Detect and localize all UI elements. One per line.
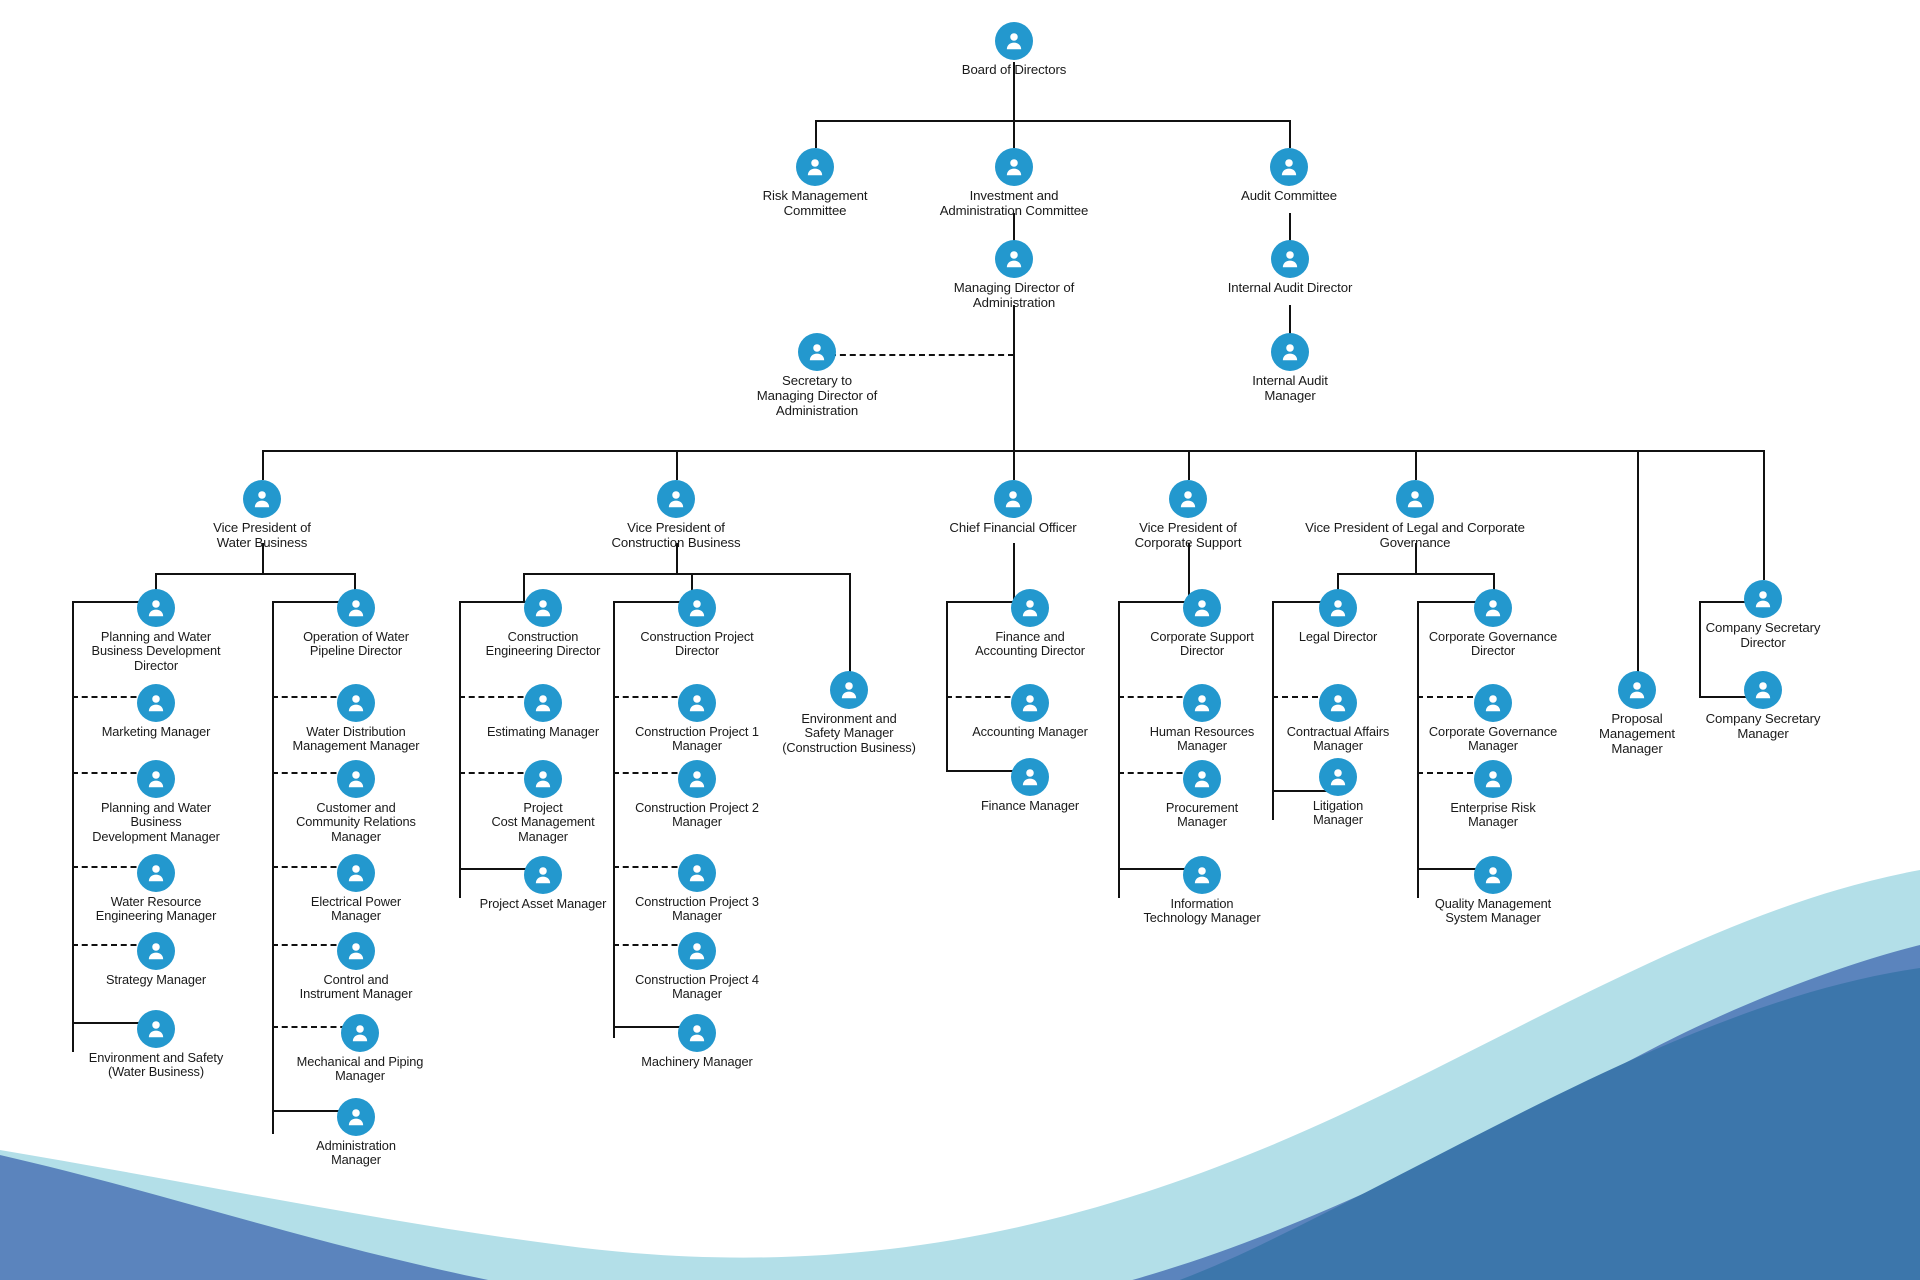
person-icon	[1183, 589, 1221, 627]
node-quality-management-system-manager[interactable]: Quality Management System Manager	[1409, 856, 1577, 926]
node-environment-safety-manager-construction[interactable]: Environment and Safety Manager (Construc…	[763, 671, 935, 755]
person-icon	[137, 684, 175, 722]
person-icon	[137, 932, 175, 970]
org-chart-canvas: Board of Directors Risk Management Commi…	[0, 0, 1920, 1280]
node-risk-management-committee[interactable]: Risk Management Committee	[725, 148, 905, 219]
person-icon	[524, 856, 562, 894]
node-construction-project-1-manager[interactable]: Construction Project 1 Manager	[607, 684, 787, 754]
node-contractual-affairs-manager[interactable]: Contractual Affairs Manager	[1266, 684, 1410, 754]
node-electrical-power-manager[interactable]: Electrical Power Manager	[272, 854, 440, 924]
node-strategy-manager[interactable]: Strategy Manager	[82, 932, 230, 987]
node-label: Customer and Community Relations Manager	[296, 801, 416, 844]
node-control-instrument-manager[interactable]: Control and Instrument Manager	[272, 932, 440, 1002]
connector-to-vp-legal	[1415, 450, 1417, 480]
person-icon	[678, 1014, 716, 1052]
node-label: Construction Project 2 Manager	[635, 801, 759, 830]
connector-to-cfo	[1013, 450, 1015, 480]
node-mechanical-piping-manager[interactable]: Mechanical and Piping Manager	[272, 1014, 448, 1084]
node-vp-water-business[interactable]: Vice President of Water Business	[177, 480, 347, 551]
node-human-resources-manager[interactable]: Human Resources Manager	[1118, 684, 1286, 754]
node-planning-water-business-development-manager[interactable]: Planning and Water Business Development …	[82, 760, 230, 844]
node-internal-audit-director[interactable]: Internal Audit Director	[1195, 240, 1385, 296]
node-label: Risk Management Committee	[763, 189, 868, 219]
node-label: Procurement Manager	[1166, 801, 1238, 830]
person-icon	[524, 684, 562, 722]
connector-vplegal-bus	[1337, 573, 1493, 575]
person-icon	[830, 671, 868, 709]
person-icon	[137, 589, 175, 627]
node-label: Secretary to Managing Director of Admini…	[757, 374, 877, 419]
person-icon	[337, 932, 375, 970]
node-water-resource-engineering-manager[interactable]: Water Resource Engineering Manager	[82, 854, 230, 924]
person-icon	[524, 760, 562, 798]
person-icon	[678, 932, 716, 970]
node-internal-audit-manager[interactable]: Internal Audit Manager	[1215, 333, 1365, 404]
node-marketing-manager[interactable]: Marketing Manager	[82, 684, 230, 739]
person-icon	[657, 480, 695, 518]
node-construction-project-3-manager[interactable]: Construction Project 3 Manager	[607, 854, 787, 924]
node-label: Planning and Water Business Development …	[92, 801, 220, 844]
node-finance-manager[interactable]: Finance Manager	[946, 758, 1114, 813]
node-corporate-support-director[interactable]: Corporate Support Director	[1118, 589, 1286, 659]
node-label: Project Cost Management Manager	[491, 801, 594, 844]
node-accounting-manager[interactable]: Accounting Manager	[946, 684, 1114, 739]
node-litigation-manager[interactable]: Litigation Manager	[1266, 758, 1410, 828]
node-board-of-directors[interactable]: Board of Directors	[914, 22, 1114, 78]
connector-to-vp-construction	[676, 450, 678, 480]
node-label: Finance Manager	[981, 799, 1079, 813]
connector-to-audit	[1289, 120, 1291, 148]
person-icon	[1474, 856, 1512, 894]
node-label: Contractual Affairs Manager	[1287, 725, 1389, 754]
node-label: Water Distribution Management Manager	[293, 725, 420, 754]
node-water-distribution-management-manager[interactable]: Water Distribution Management Manager	[272, 684, 440, 754]
person-icon	[137, 1010, 175, 1048]
person-icon	[1319, 684, 1357, 722]
node-label: Estimating Manager	[487, 725, 599, 739]
node-label: Proposal Management Manager	[1599, 712, 1675, 757]
node-procurement-manager[interactable]: Procurement Manager	[1118, 760, 1286, 830]
node-label: Company Secretary Director	[1706, 621, 1821, 651]
node-label: Construction Engineering Director	[486, 630, 601, 659]
node-administration-manager[interactable]: Administration Manager	[272, 1098, 440, 1168]
node-label: Environment and Safety (Water Business)	[89, 1051, 223, 1080]
person-icon	[1618, 671, 1656, 709]
person-icon	[678, 760, 716, 798]
person-icon	[994, 480, 1032, 518]
person-icon	[1319, 589, 1357, 627]
person-icon	[243, 480, 281, 518]
node-label: Electrical Power Manager	[311, 895, 401, 924]
connector-to-company-secretary	[1763, 450, 1765, 580]
node-label: Operation of Water Pipeline Director	[303, 630, 409, 659]
node-label: Corporate Governance Manager	[1429, 725, 1557, 754]
connector-to-vp-water	[262, 450, 264, 480]
person-icon	[678, 589, 716, 627]
connector-vpconst-bus	[523, 573, 849, 575]
node-label: Water Resource Engineering Manager	[96, 895, 216, 924]
person-icon	[1169, 480, 1207, 518]
node-label: Quality Management System Manager	[1435, 897, 1551, 926]
person-icon	[337, 854, 375, 892]
node-label: Project Asset Manager	[480, 897, 607, 911]
node-environment-safety-water-business[interactable]: Environment and Safety (Water Business)	[62, 1010, 250, 1080]
node-construction-project-director[interactable]: Construction Project Director	[613, 589, 781, 659]
node-label: Internal Audit Manager	[1252, 374, 1328, 404]
node-label: Vice President of Legal and Corporate Go…	[1305, 521, 1525, 551]
node-label: Board of Directors	[962, 63, 1066, 78]
node-investment-administration-committee[interactable]: Investment and Administration Committee	[903, 148, 1125, 219]
node-label: Control and Instrument Manager	[300, 973, 413, 1002]
node-project-cost-management-manager[interactable]: Project Cost Management Manager	[459, 760, 627, 844]
person-icon	[341, 1014, 379, 1052]
node-legal-director[interactable]: Legal Director	[1266, 589, 1410, 644]
person-icon	[1183, 856, 1221, 894]
node-label: Internal Audit Director	[1228, 281, 1353, 296]
node-label: Planning and Water Business Development …	[92, 630, 221, 673]
person-icon	[1270, 148, 1308, 186]
person-icon	[1744, 671, 1782, 709]
node-operation-water-pipeline-director[interactable]: Operation of Water Pipeline Director	[272, 589, 440, 659]
node-label: Environment and Safety Manager (Construc…	[782, 712, 916, 755]
person-icon	[796, 148, 834, 186]
person-icon	[798, 333, 836, 371]
node-vp-construction-business[interactable]: Vice President of Construction Business	[581, 480, 771, 551]
connector-board-bus	[815, 120, 1290, 122]
node-company-secretary-manager[interactable]: Company Secretary Manager	[1682, 671, 1844, 742]
node-audit-committee[interactable]: Audit Committee	[1199, 148, 1379, 204]
node-managing-director-administration[interactable]: Managing Director of Administration	[918, 240, 1110, 311]
person-icon	[995, 148, 1033, 186]
node-label: Construction Project 1 Manager	[635, 725, 759, 754]
node-vp-legal-corporate-governance[interactable]: Vice President of Legal and Corporate Go…	[1286, 480, 1544, 551]
person-icon	[1271, 333, 1309, 371]
node-label: Enterprise Risk Manager	[1450, 801, 1535, 830]
node-label: Vice President of Water Business	[213, 521, 311, 551]
node-label: Administration Manager	[316, 1139, 396, 1168]
person-icon	[678, 854, 716, 892]
person-icon	[1474, 589, 1512, 627]
node-label: Managing Director of Administration	[954, 281, 1074, 311]
connector-to-env-construction	[849, 573, 851, 683]
node-label: Chief Financial Officer	[949, 521, 1076, 536]
wave-dark-shape	[920, 968, 1920, 1280]
node-label: Strategy Manager	[106, 973, 206, 987]
node-label: Company Secretary Manager	[1706, 712, 1821, 742]
node-customer-community-relations-manager[interactable]: Customer and Community Relations Manager	[272, 760, 440, 844]
person-icon	[137, 854, 175, 892]
node-corporate-governance-director[interactable]: Corporate Governance Director	[1417, 589, 1569, 659]
node-chief-financial-officer[interactable]: Chief Financial Officer	[923, 480, 1103, 536]
node-construction-project-4-manager[interactable]: Construction Project 4 Manager	[607, 932, 787, 1002]
person-icon	[337, 1098, 375, 1136]
person-icon	[1271, 240, 1309, 278]
person-icon	[137, 760, 175, 798]
node-machinery-manager[interactable]: Machinery Manager	[607, 1014, 787, 1069]
node-label: Construction Project 3 Manager	[635, 895, 759, 924]
node-label: Vice President of Corporate Support	[1135, 521, 1242, 551]
node-finance-accounting-director[interactable]: Finance and Accounting Director	[946, 589, 1114, 659]
node-label: Construction Project 4 Manager	[635, 973, 759, 1002]
node-label: Legal Director	[1299, 630, 1377, 644]
node-construction-engineering-director[interactable]: Construction Engineering Director	[459, 589, 627, 659]
node-label: Investment and Administration Committee	[940, 189, 1089, 219]
person-icon	[524, 589, 562, 627]
person-icon	[1011, 589, 1049, 627]
person-icon	[337, 684, 375, 722]
person-icon	[1183, 684, 1221, 722]
connector-to-vp-corporate	[1188, 450, 1190, 480]
node-label: Corporate Governance Director	[1429, 630, 1557, 659]
node-label: Human Resources Manager	[1150, 725, 1254, 754]
person-icon	[995, 22, 1033, 60]
node-corporate-governance-manager[interactable]: Corporate Governance Manager	[1417, 684, 1569, 754]
person-icon	[1183, 760, 1221, 798]
node-label: Accounting Manager	[972, 725, 1088, 739]
connector-vpwater-bus	[155, 573, 354, 575]
node-planning-water-business-development-director[interactable]: Planning and Water Business Development …	[72, 589, 240, 673]
node-label: Finance and Accounting Director	[975, 630, 1085, 659]
node-label: Mechanical and Piping Manager	[297, 1055, 424, 1084]
connector-to-proposal-manager	[1637, 450, 1639, 680]
node-label: Corporate Support Director	[1150, 630, 1254, 659]
node-vp-corporate-support[interactable]: Vice President of Corporate Support	[1108, 480, 1268, 551]
person-icon	[678, 684, 716, 722]
person-icon	[337, 589, 375, 627]
person-icon	[337, 760, 375, 798]
node-secretary-to-managing-director[interactable]: Secretary to Managing Director of Admini…	[727, 333, 907, 419]
node-enterprise-risk-manager[interactable]: Enterprise Risk Manager	[1417, 760, 1569, 830]
person-icon	[995, 240, 1033, 278]
node-label: Machinery Manager	[641, 1055, 752, 1069]
node-label: Audit Committee	[1241, 189, 1337, 204]
connector-to-investment	[1013, 120, 1015, 148]
person-icon	[1011, 684, 1049, 722]
person-icon	[1319, 758, 1357, 796]
person-icon	[1396, 480, 1434, 518]
node-label: Information Technology Manager	[1143, 897, 1260, 926]
person-icon	[1011, 758, 1049, 796]
connector-md-spine	[1013, 305, 1015, 450]
node-label: Vice President of Construction Business	[611, 521, 740, 551]
person-icon	[1474, 760, 1512, 798]
person-icon	[1744, 580, 1782, 618]
node-construction-project-2-manager[interactable]: Construction Project 2 Manager	[607, 760, 787, 830]
node-information-technology-manager[interactable]: Information Technology Manager	[1110, 856, 1294, 926]
node-label: Marketing Manager	[102, 725, 211, 739]
node-company-secretary-director[interactable]: Company Secretary Director	[1682, 580, 1844, 651]
connector-to-risk	[815, 120, 817, 148]
person-icon	[1474, 684, 1512, 722]
node-label: Litigation Manager	[1313, 799, 1363, 828]
node-label: Construction Project Director	[640, 630, 753, 659]
